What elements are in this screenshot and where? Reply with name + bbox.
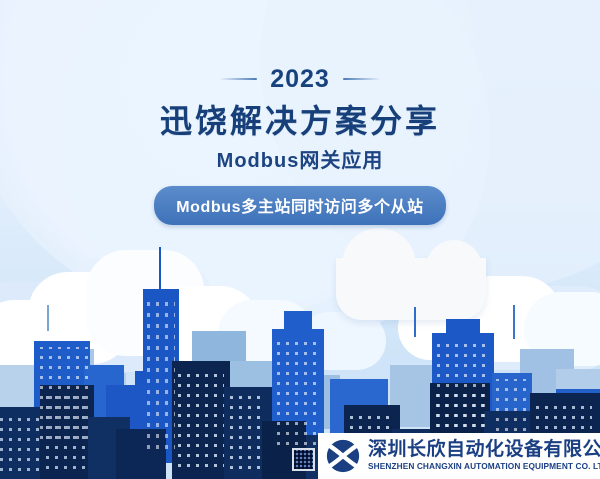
antenna-right xyxy=(414,307,416,337)
building-blue-right-2 xyxy=(446,319,480,333)
status-badge: Modbus多主站同时访问多个从站 xyxy=(154,186,446,225)
window-grid-tower xyxy=(147,299,175,449)
company-name-cn: 深圳长欣自动化设备有限公司 xyxy=(368,440,600,460)
year-dash-right-icon xyxy=(343,78,381,80)
company-name-en: SHENZHEN CHANGXIN AUTOMATION EQUIPMENT C… xyxy=(368,462,600,472)
antenna-main xyxy=(159,247,161,289)
page-subtitle: Modbus网关应用 xyxy=(0,149,600,173)
changxin-logo-mark-icon xyxy=(324,437,362,475)
window-grid-dark-2 xyxy=(46,391,88,469)
building-blue-mid-2 xyxy=(284,311,312,329)
window-grid-blue-mid xyxy=(277,335,319,445)
year-dash-left-icon xyxy=(219,78,257,80)
antenna-left xyxy=(47,305,49,331)
year-label: 2023 xyxy=(270,67,330,92)
window-grid-dark-3 xyxy=(178,369,224,467)
page-title: 迅饶解决方案分享 xyxy=(0,103,600,140)
poster-header: 2023 迅饶解决方案分享 Modbus网关应用 Modbus多主站同时访问多个… xyxy=(0,64,600,225)
badge-row: Modbus多主站同时访问多个从站 xyxy=(0,186,600,225)
company-logo-bar: 深圳长欣自动化设备有限公司 SHENZHEN CHANGXIN AUTOMATI… xyxy=(318,433,600,479)
window-grid-dark-4 xyxy=(230,395,266,469)
qr-watermark-icon xyxy=(292,448,315,471)
company-name-block: 深圳长欣自动化设备有限公司 SHENZHEN CHANGXIN AUTOMATI… xyxy=(368,440,600,472)
year-row: 2023 xyxy=(0,64,600,94)
window-grid-dark-1 xyxy=(0,413,40,471)
poster-canvas: 2023 迅饶解决方案分享 Modbus网关应用 Modbus多主站同时访问多个… xyxy=(0,0,600,479)
antenna-far-right xyxy=(513,305,515,339)
